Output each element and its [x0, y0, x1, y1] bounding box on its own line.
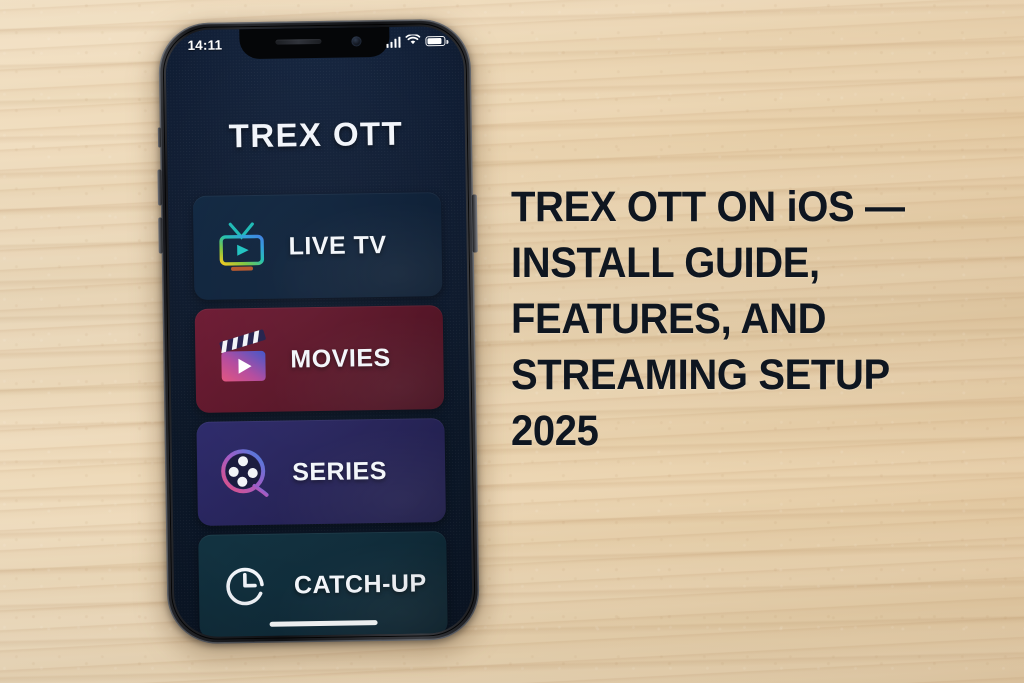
status-bar: 14:11 [165, 26, 463, 61]
clock-icon [216, 555, 279, 618]
battery-icon [425, 36, 445, 47]
wifi-icon [405, 32, 420, 50]
app-title: TREX OTT [167, 114, 466, 157]
smartphone-device: 14:11 TREX OTT [158, 19, 480, 645]
film-reel-icon [214, 442, 277, 505]
page-headline: TREX OTT ON iOS — INSTALL GUIDE, FEATURE… [511, 180, 931, 459]
silence-switch[interactable] [157, 127, 161, 147]
menu-item-label: MOVIES [290, 343, 391, 374]
tv-icon [210, 216, 273, 279]
power-button[interactable] [472, 195, 477, 253]
status-time: 14:11 [187, 37, 222, 53]
volume-up-button[interactable] [157, 169, 162, 205]
menu-item-label: LIVE TV [288, 230, 386, 261]
menu-item-live-tv[interactable]: LIVE TV [193, 192, 443, 300]
menu-item-label: SERIES [292, 456, 387, 486]
clapperboard-icon [212, 329, 275, 392]
cellular-signal-icon [386, 36, 401, 47]
menu-item-label: CATCH-UP [294, 569, 427, 600]
menu-item-movies[interactable]: MOVIES [195, 305, 445, 413]
app-menu-list: LIVE TV [193, 192, 448, 637]
volume-down-button[interactable] [158, 217, 163, 253]
phone-screen: 14:11 TREX OTT [165, 26, 472, 638]
status-icon-group [386, 32, 446, 51]
menu-item-series[interactable]: SERIES [196, 418, 446, 526]
